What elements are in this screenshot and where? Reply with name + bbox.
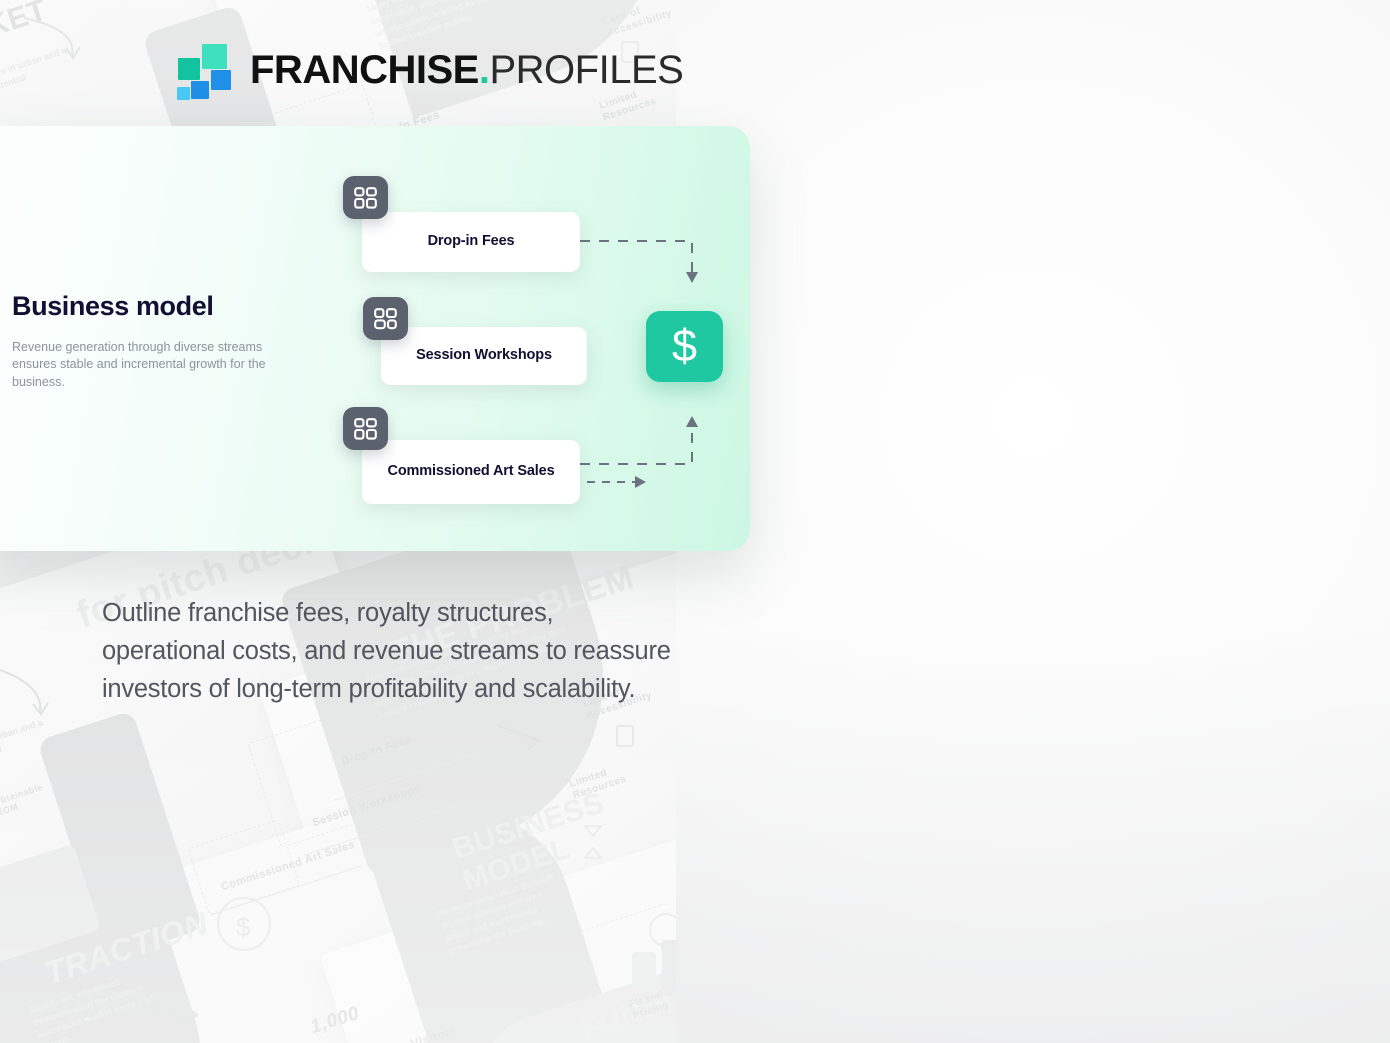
slide-preview-stage: KET for pitch deck THE PROBLEM BUSINESS … [0, 0, 1390, 1043]
dollar-sign-icon: $ [672, 323, 697, 368]
description-paragraph-2: Outline franchise fees, royalty structur… [102, 594, 682, 708]
revenue-streams-diagram: Drop-in Fees Session Workshops [0, 126, 750, 551]
revenue-node-label: Commissioned Art Sales [388, 463, 555, 481]
franchise-profiles-logo-icon [176, 42, 234, 98]
logo-square-teal [178, 58, 200, 80]
logo-square-mint [202, 44, 227, 69]
logo-dot: . [479, 48, 490, 92]
brand-logo-wordmark: FRANCHISE.PROFILES [250, 50, 683, 90]
logo-square-blue-1 [211, 70, 231, 90]
svg-text:$: $ [236, 912, 251, 942]
grid-layout-icon [343, 407, 388, 450]
brand-logo[interactable]: FRANCHISE.PROFILES [176, 42, 683, 98]
revenue-node-label: Session Workshops [416, 347, 552, 365]
logo-square-sky [177, 87, 190, 100]
revenue-node-label: Drop-in Fees [428, 233, 515, 251]
business-model-slide-card[interactable]: Business model Revenue generation throug… [0, 126, 750, 551]
revenue-node[interactable]: Drop-in Fees [362, 212, 580, 272]
revenue-money-node[interactable]: $ [646, 311, 723, 382]
logo-word-franchise: FRANCHISE [250, 48, 479, 92]
right-content-panel [676, 0, 1390, 1043]
logo-square-blue-2 [191, 81, 209, 99]
grid-layout-icon [363, 297, 408, 340]
revenue-node[interactable]: Session Workshops [381, 327, 587, 385]
logo-word-profiles: PROFILES [489, 48, 683, 92]
revenue-node[interactable]: Commissioned Art Sales [362, 440, 580, 504]
grid-layout-icon [343, 176, 388, 219]
